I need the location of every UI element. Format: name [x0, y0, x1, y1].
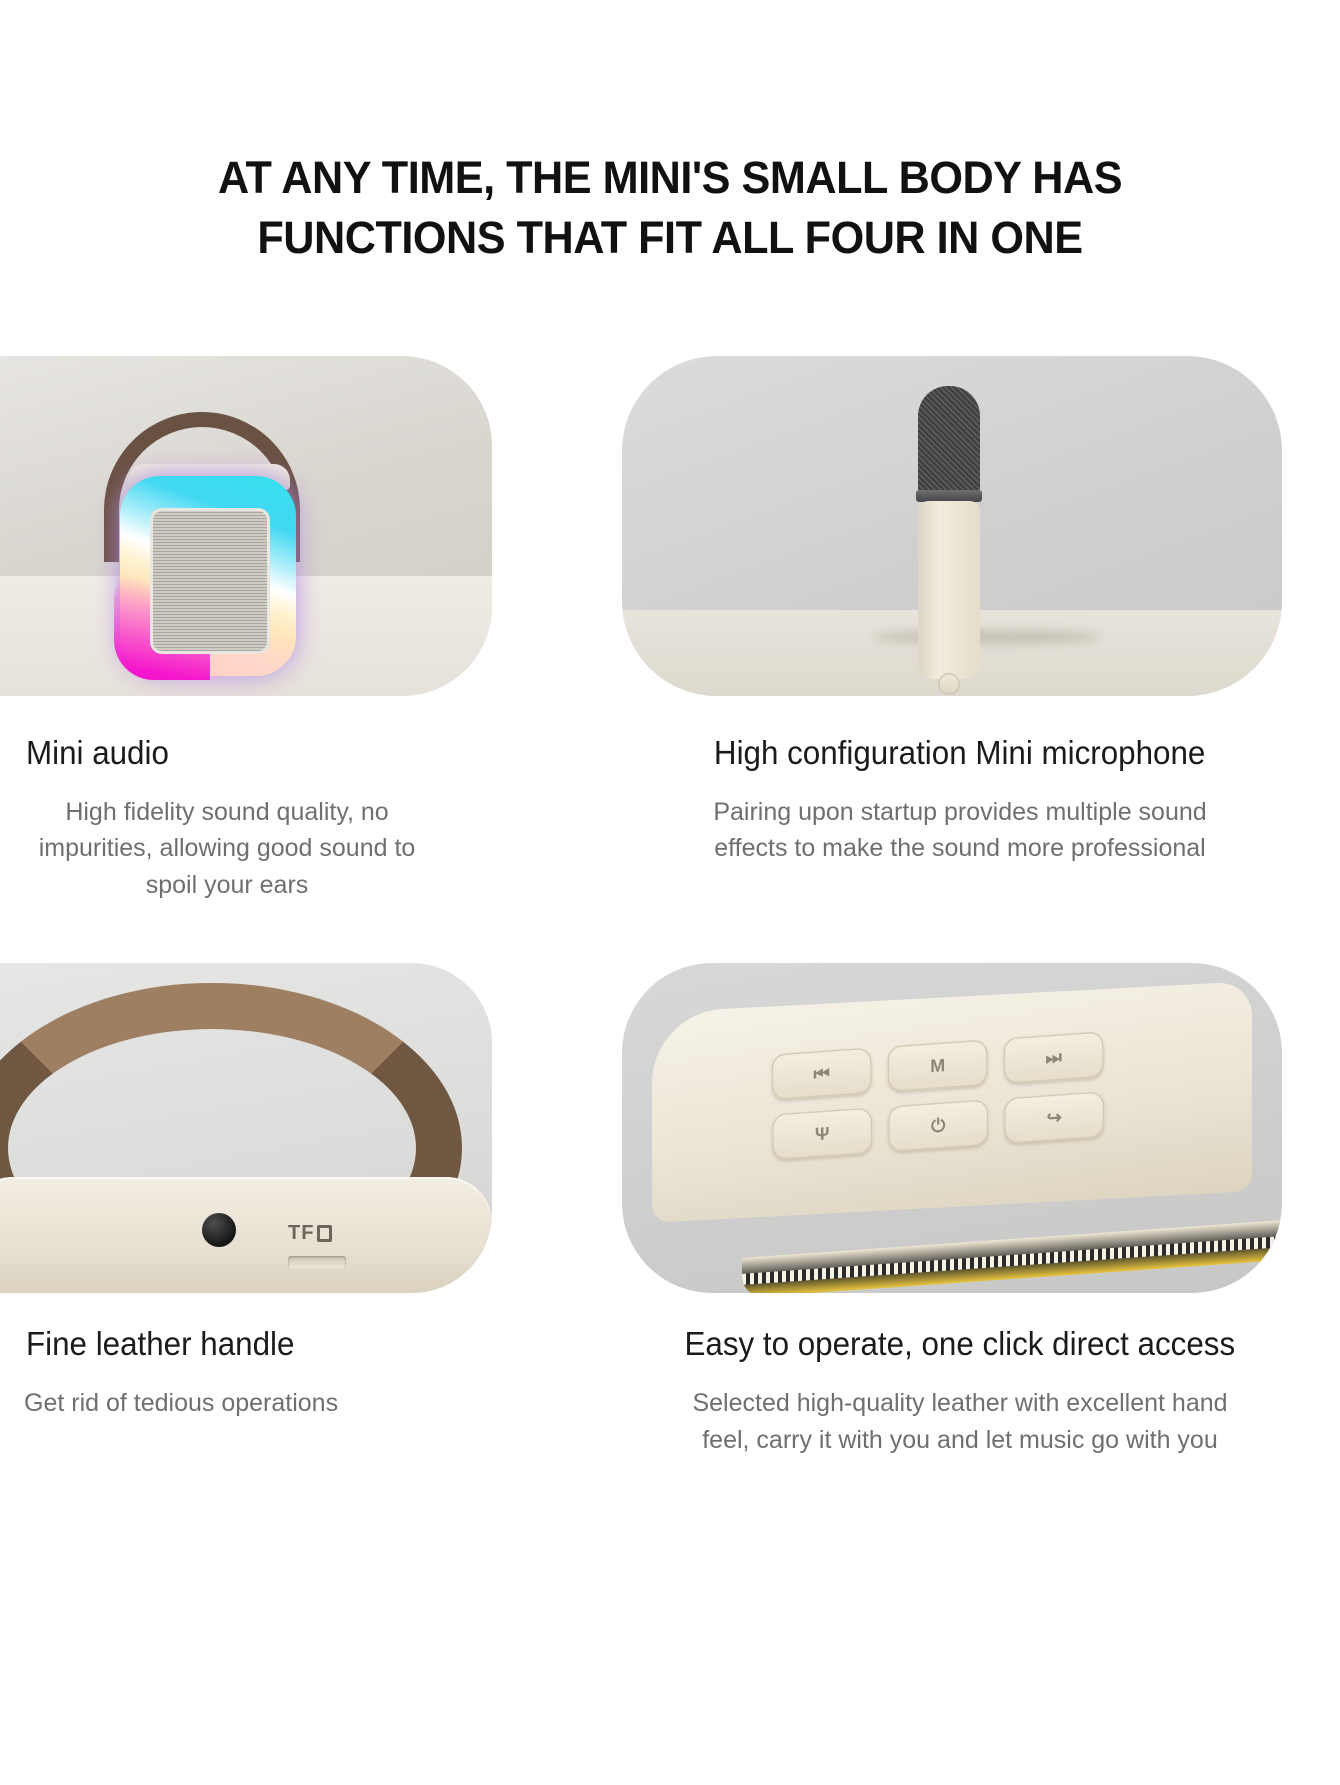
feature-card-mini-audio: Mini audio High fidelity sound quality, … [0, 356, 540, 904]
microphone-shadow [872, 630, 1102, 644]
page-title-line-2: FUNCTIONS THAT FIT ALL FOUR IN ONE [84, 208, 1255, 268]
feature-card-leather-handle: TF Fine leather handle Get rid of tediou… [0, 963, 540, 1458]
easy-operate-body: Selected high-quality leather with excel… [680, 1385, 1240, 1458]
easy-operate-photo: ⏮ M ⏭ Ψ ⏻ ↪ [622, 963, 1282, 1293]
product-feature-page: { "headline": { "line1": "AT ANY TIME, T… [0, 0, 1340, 1785]
bluetooth-button: ↪ [1004, 1091, 1104, 1144]
feature-card-easy-operate: ⏮ M ⏭ Ψ ⏻ ↪ Easy to operate, one click d… [580, 963, 1340, 1458]
easy-operate-caption: Easy to operate, one click direct access… [580, 1325, 1340, 1458]
mini-microphone-caption: High configuration Mini microphone Pairi… [580, 734, 1340, 867]
feature-grid: Mini audio High fidelity sound quality, … [0, 356, 1340, 1459]
page-title: AT ANY TIME, THE MINI'S SMALL BODY HAS F… [0, 0, 1340, 268]
feature-card-mini-microphone: High configuration Mini microphone Pairi… [580, 356, 1340, 904]
tf-card-icon [317, 1225, 332, 1242]
aux-port-icon [202, 1213, 236, 1247]
mini-audio-caption: Mini audio High fidelity sound quality, … [26, 734, 540, 904]
mini-microphone-body: Pairing upon startup provides multiple s… [680, 794, 1240, 867]
mini-audio-body: High fidelity sound quality, no impuriti… [12, 794, 442, 904]
mode-button: M [887, 1039, 987, 1092]
mini-microphone-title: High configuration Mini microphone [714, 734, 1205, 772]
mini-audio-title: Mini audio [26, 734, 514, 772]
speaker-side-body [0, 1177, 492, 1293]
microphone-mesh-head-icon [918, 386, 980, 494]
tf-slot-text: TF [288, 1222, 314, 1245]
speaker-front-edge [742, 1220, 1282, 1293]
leather-handle-body: Get rid of tedious operations [24, 1385, 454, 1422]
power-button: ⏻ [888, 1099, 988, 1152]
next-track-button: ⏭ [1003, 1031, 1103, 1084]
page-title-line-1: AT ANY TIME, THE MINI'S SMALL BODY HAS [84, 148, 1255, 208]
microphone-body [918, 501, 980, 679]
microphone-collar [916, 490, 982, 502]
tf-card-slot [288, 1256, 346, 1269]
leather-handle-title: Fine leather handle [26, 1325, 514, 1363]
mini-audio-photo [0, 356, 492, 696]
previous-track-button: ⏮ [771, 1048, 871, 1101]
leather-handle-photo: TF [0, 963, 492, 1293]
microphone-button: Ψ [772, 1107, 872, 1160]
leather-handle-caption: Fine leather handle Get rid of tedious o… [26, 1325, 540, 1422]
mini-microphone-photo [622, 356, 1282, 696]
easy-operate-title: Easy to operate, one click direct access [685, 1325, 1236, 1363]
speaker-mesh-grille [150, 508, 270, 654]
tf-slot-label: TF [288, 1222, 332, 1245]
microphone-power-button [938, 673, 960, 695]
